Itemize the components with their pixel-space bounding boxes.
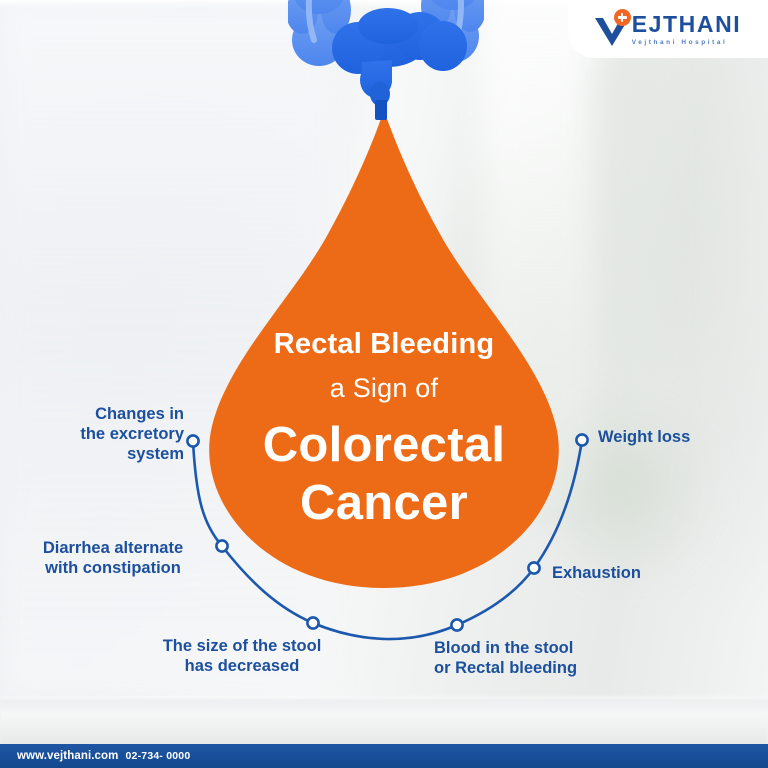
- symptom-label-diarrhea: Diarrhea alternatewith constipation: [14, 538, 212, 578]
- symptom-label-weight-loss: Weight loss: [598, 427, 768, 447]
- footer-bar: www.vejthani.com 02-734- 0000: [0, 744, 768, 768]
- symptom-label-excretory: Changes inthe excretorysystem: [24, 404, 184, 464]
- symptom-label-blood: Blood in the stoolor Rectal bleeding: [434, 638, 634, 678]
- footer-website[interactable]: www.vejthani.com: [17, 750, 119, 762]
- symptom-node-exhaustion: [528, 562, 539, 573]
- infographic-poster: EJTHANI Vejthani Hospital: [0, 0, 768, 768]
- symptom-connector-arc: [0, 0, 768, 768]
- symptom-node-diarrhea: [216, 540, 227, 551]
- symptom-node-weight: [576, 434, 587, 445]
- symptom-node-blood: [451, 619, 462, 630]
- symptom-label-exhaustion: Exhaustion: [552, 563, 732, 583]
- symptom-node-excretory: [187, 435, 198, 446]
- symptom-label-stool-size: The size of the stoolhas decreased: [138, 636, 346, 676]
- symptom-node-stool-size: [307, 617, 318, 628]
- footer-phone[interactable]: 02-734- 0000: [126, 750, 191, 762]
